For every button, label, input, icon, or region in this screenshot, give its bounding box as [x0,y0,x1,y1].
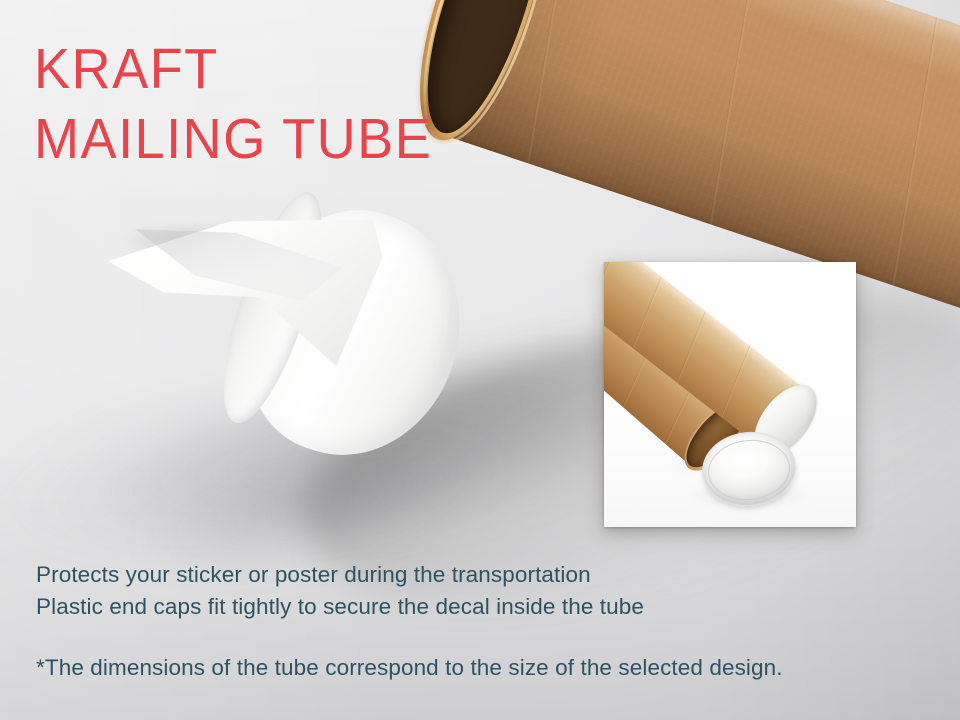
inset-photo [604,262,856,527]
title-line-2: MAILING TUBE [34,104,432,174]
feature-copy-line-1: Protects your sticker or poster during t… [36,559,644,591]
feature-copy-line-2: Plastic end caps fit tightly to secure t… [36,591,644,623]
product-banner: KRAFT MAILING TUBE Protects your sticker… [0,0,960,720]
feature-copy: Protects your sticker or poster during t… [36,559,644,623]
footnote: *The dimensions of the tube correspond t… [36,653,783,683]
page-title: KRAFT MAILING TUBE [34,34,432,174]
inset-photo-frame [604,262,856,527]
title-line-1: KRAFT [34,34,432,104]
